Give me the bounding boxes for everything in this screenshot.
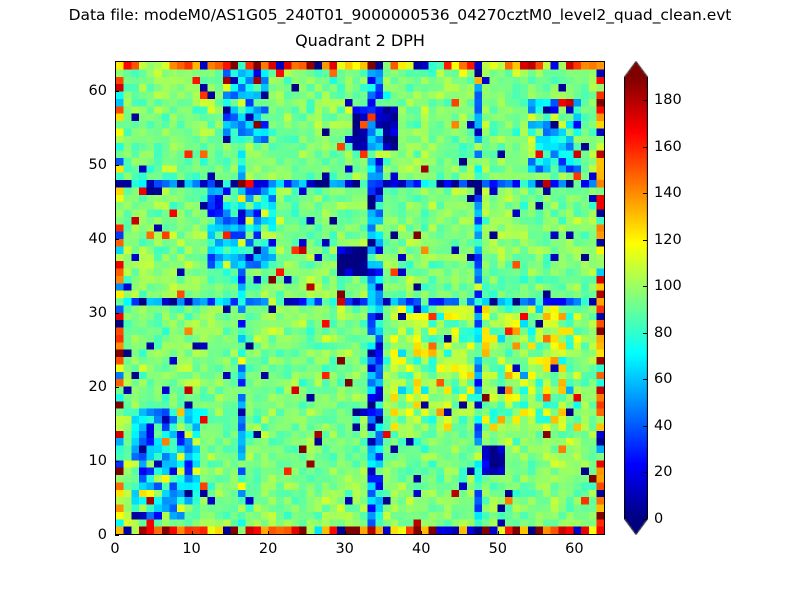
y-tick-mark: [115, 91, 119, 92]
colorbar-tick-mark: [643, 519, 647, 520]
x-tick-label: 40: [412, 541, 430, 557]
y-tick-mark: [115, 165, 119, 166]
x-tick-mark: [345, 531, 346, 535]
colorbar-tick-mark: [643, 193, 647, 194]
colorbar-tick-label: 100: [654, 278, 682, 294]
y-tick-label: 20: [63, 379, 107, 395]
dph-heatmap-axes[interactable]: [115, 61, 605, 535]
y-tick-label: 30: [63, 305, 107, 321]
x-tick-mark: [192, 531, 193, 535]
colorbar-tick-mark: [643, 426, 647, 427]
colorbar-tick-label: 160: [654, 139, 682, 155]
x-tick-mark: [421, 531, 422, 535]
x-tick-label: 10: [182, 541, 200, 557]
colorbar-tick-label: 0: [654, 511, 663, 527]
x-tick-mark: [498, 531, 499, 535]
colorbar-tick-label: 60: [654, 371, 672, 387]
x-tick-label: 30: [335, 541, 353, 557]
x-tick-mark: [574, 531, 575, 535]
y-tick-mark: [115, 313, 119, 314]
dph-heatmap-image: [116, 62, 604, 534]
matplotlib-figure: Data file: modeM0/AS1G05_240T01_90000005…: [0, 0, 800, 600]
colorbar-tick-label: 20: [654, 464, 672, 480]
colorbar-gradient: [624, 61, 648, 535]
y-tick-mark: [115, 535, 119, 536]
colorbar-tick-mark: [643, 333, 647, 334]
plot-title: Quadrant 2 DPH: [115, 31, 605, 51]
colorbar-tick-mark: [643, 100, 647, 101]
colorbar-tick-mark: [643, 147, 647, 148]
x-tick-mark: [268, 531, 269, 535]
y-tick-label: 10: [63, 453, 107, 469]
x-tick-label: 20: [259, 541, 277, 557]
y-tick-label: 50: [63, 157, 107, 173]
y-tick-label: 0: [63, 527, 107, 543]
colorbar-tick-label: 40: [654, 418, 672, 434]
colorbar-tick-label: 180: [654, 92, 682, 108]
colorbar-tick-label: 80: [654, 325, 672, 341]
y-tick-mark: [115, 239, 119, 240]
y-tick-mark: [115, 461, 119, 462]
colorbar-tick-mark: [643, 379, 647, 380]
x-tick-label: 60: [565, 541, 583, 557]
y-tick-label: 40: [63, 231, 107, 247]
colorbar-tick-label: 140: [654, 185, 682, 201]
colorbar-tick-mark: [643, 472, 647, 473]
x-tick-label: 50: [489, 541, 507, 557]
colorbar-tick-mark: [643, 240, 647, 241]
y-tick-mark: [115, 387, 119, 388]
colorbar-tick-mark: [643, 286, 647, 287]
y-tick-label: 60: [63, 83, 107, 99]
colorbar[interactable]: [624, 61, 648, 535]
x-tick-label: 0: [110, 541, 119, 557]
colorbar-tick-label: 120: [654, 232, 682, 248]
data-file-suptitle: Data file: modeM0/AS1G05_240T01_90000005…: [0, 6, 800, 24]
